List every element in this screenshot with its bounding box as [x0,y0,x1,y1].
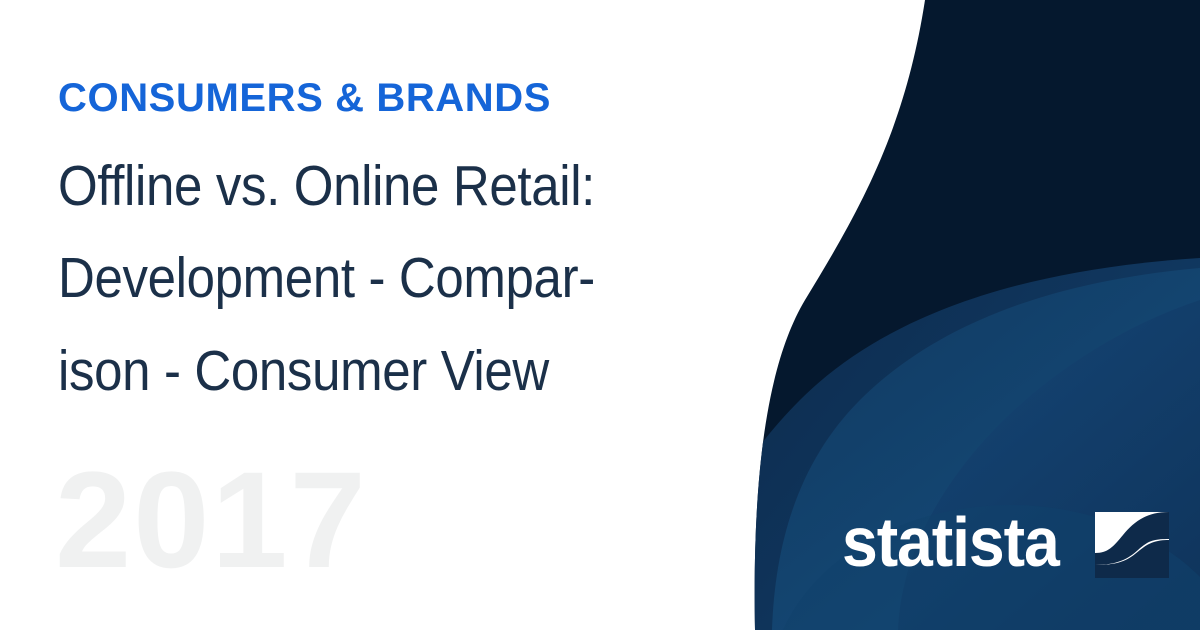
page-title-line-3: ison - Consumer View [58,325,702,417]
cover-text-column: CONSUMERS & BRANDS Offline vs. Online Re… [58,78,778,417]
statista-wordmark: statista [842,507,1059,583]
page-title-line-2: Development - Compar- [58,232,702,324]
year-watermark: 2017 [55,452,368,589]
category-kicker: CONSUMERS & BRANDS [58,78,778,118]
page-title-line-1: Offline vs. Online Retail: [58,140,702,232]
statista-s-curve-logo-mark [1095,512,1169,578]
statista-report-cover: CONSUMERS & BRANDS Offline vs. Online Re… [0,0,1200,630]
statista-brand-lockup[interactable]: statista [842,508,1169,582]
page-title: Offline vs. Online Retail: Development -… [58,140,702,417]
